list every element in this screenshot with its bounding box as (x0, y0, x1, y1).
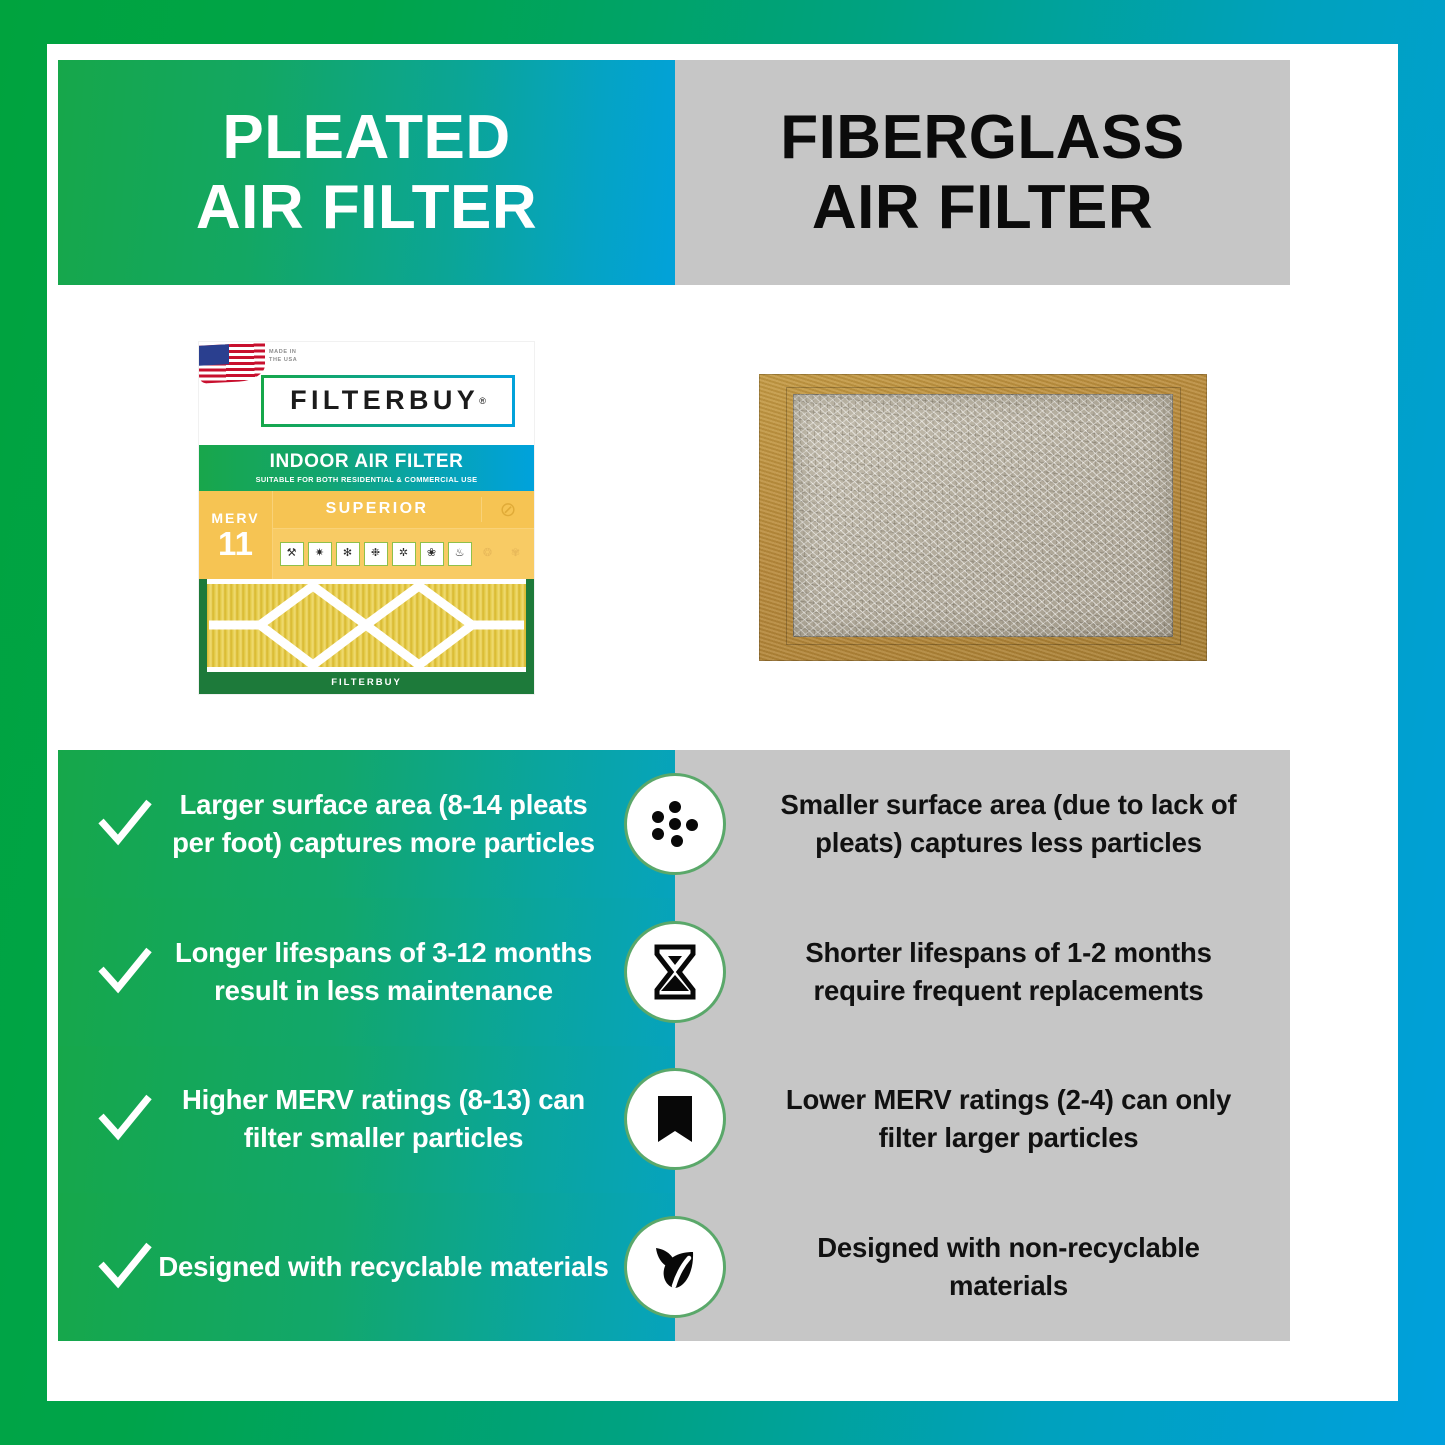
bacteria-icon: ❉ (364, 542, 388, 566)
capability-icon-strip: ⚒ ✷ ✻ ❉ ✲ ❀ ♨ ❂ ✾ (273, 529, 534, 579)
tier-label: SUPERIOR (273, 500, 481, 518)
pet-dander-icon: ❀ (420, 542, 444, 566)
box-banner: INDOOR AIR FILTER SUITABLE FOR BOTH RESI… (199, 445, 534, 491)
insect-icon: ✷ (308, 542, 332, 566)
header-row: PLEATED AIR FILTER FIBERGLASS AIR FILTER (58, 60, 1290, 285)
fiberglass-drawback-text: Designed with non-recyclable materials (767, 1229, 1250, 1305)
merv-badge: MERV 11 (199, 491, 273, 579)
pleated-cell: Larger surface area (8-14 pleats per foo… (58, 750, 675, 898)
box-banner-subtitle: SUITABLE FOR BOTH RESIDENTIAL & COMMERCI… (256, 475, 478, 484)
comparison-row: Higher MERV ratings (8-13) can filter sm… (58, 1046, 1290, 1194)
fiberglass-drawback-text: Lower MERV ratings (2-4) can only filter… (767, 1081, 1250, 1157)
fiberglass-product-cell (675, 285, 1290, 750)
checkmark-icon (92, 795, 158, 853)
leaf-eco-icon (627, 1219, 723, 1315)
comparison-row: Larger surface area (8-14 pleats per foo… (58, 750, 1290, 898)
virus-icon: ✻ (336, 542, 360, 566)
checkmark-icon (92, 1238, 158, 1296)
pleated-product-cell: MADE IN THE USA FILTERBUY® INDOOR AIR FI… (58, 285, 675, 750)
filterbuy-logo: FILTERBUY® (261, 375, 515, 427)
fiberglass-media (793, 394, 1173, 637)
pleated-cell: Longer lifespans of 3-12 months result i… (58, 898, 675, 1046)
box-spec-section: MERV 11 SUPERIOR ⊘ ⚒ ✷ ✻ ❉ ✲ (199, 491, 534, 579)
fiberglass-drawback-text: Shorter lifespans of 1-2 months require … (767, 934, 1250, 1010)
usa-flag-icon (199, 342, 265, 383)
pollen-icon: ✲ (392, 542, 416, 566)
pleated-benefit-text: Larger surface area (8-14 pleats per foo… (158, 786, 675, 862)
box-spec-right: SUPERIOR ⊘ ⚒ ✷ ✻ ❉ ✲ ❀ ♨ ❂ ✾ (273, 491, 534, 579)
fiberglass-filter-image (759, 374, 1207, 661)
fiberglass-header-title: FIBERGLASS AIR FILTER (780, 103, 1185, 242)
box-footer-brand: FILTERBUY (199, 672, 534, 694)
product-image-band: MADE IN THE USA FILTERBUY® INDOOR AIR FI… (58, 285, 1290, 750)
smoke-icon: ♨ (448, 542, 472, 566)
pleated-header-panel: PLEATED AIR FILTER (58, 60, 675, 285)
registered-mark: ® (479, 396, 486, 406)
pleated-benefit-text: Longer lifespans of 3-12 months result i… (158, 934, 675, 1010)
particles-icon (627, 776, 723, 872)
checkmark-icon (92, 1090, 158, 1148)
made-in-usa-label: MADE IN THE USA (269, 348, 297, 365)
box-top-section: MADE IN THE USA FILTERBUY® (199, 342, 534, 445)
dust-icon: ⚒ (280, 542, 304, 566)
hourglass-icon (627, 924, 723, 1020)
comparison-row: Longer lifespans of 3-12 months result i… (58, 898, 1290, 1046)
merv-value: 11 (218, 527, 253, 560)
support-grid (207, 579, 526, 672)
tier-row: SUPERIOR ⊘ (273, 491, 534, 529)
allergen-icon-faded: ✾ (504, 542, 528, 566)
fiberglass-cell: Smaller surface area (due to lack of ple… (675, 750, 1290, 898)
comparison-table: Larger surface area (8-14 pleats per foo… (58, 750, 1290, 1341)
infographic-page: PLEATED AIR FILTER FIBERGLASS AIR FILTER… (0, 0, 1445, 1445)
pleated-cell: Higher MERV ratings (8-13) can filter sm… (58, 1046, 675, 1194)
box-banner-title: INDOOR AIR FILTER (270, 451, 464, 473)
pleated-benefit-text: Designed with recyclable materials (158, 1248, 675, 1286)
ribbon-bookmark-icon (627, 1071, 723, 1167)
pleated-header-title: PLEATED AIR FILTER (196, 103, 537, 242)
checkmark-icon (92, 943, 158, 1001)
fiberglass-header-panel: FIBERGLASS AIR FILTER (675, 60, 1290, 285)
merv-label: MERV (211, 510, 259, 526)
filterbuy-box-image: MADE IN THE USA FILTERBUY® INDOOR AIR FI… (199, 342, 534, 694)
box-pleat-window: FILTERBUY (199, 579, 534, 694)
certification-seal-icon: ⊘ (481, 497, 534, 522)
pleated-benefit-text: Higher MERV ratings (8-13) can filter sm… (158, 1081, 675, 1157)
mold-icon-faded: ❂ (476, 542, 500, 566)
filterbuy-logo-text: FILTERBUY (290, 385, 479, 416)
pleated-cell: Designed with recyclable materials (58, 1193, 675, 1341)
fiberglass-cell: Lower MERV ratings (2-4) can only filter… (675, 1046, 1290, 1194)
fiberglass-cell: Designed with non-recyclable materials (675, 1193, 1290, 1341)
fiberglass-cell: Shorter lifespans of 1-2 months require … (675, 898, 1290, 1046)
comparison-row: Designed with recyclable materials Desig… (58, 1193, 1290, 1341)
fiberglass-drawback-text: Smaller surface area (due to lack of ple… (767, 786, 1250, 862)
